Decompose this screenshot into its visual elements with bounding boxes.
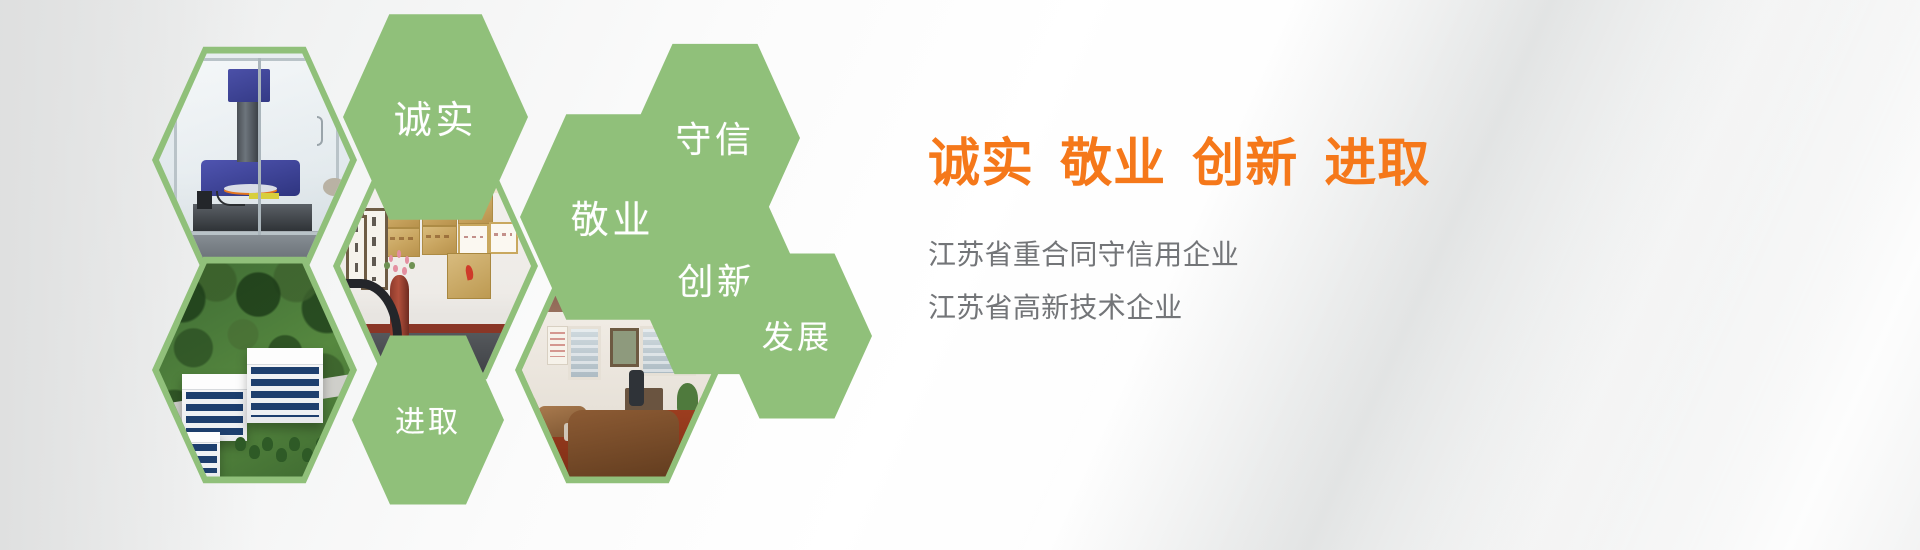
hexagon-cluster: 诚实 敬业 守信 创新 发展 进取	[0, 0, 920, 550]
hexagon-photo-cmm[interactable]	[152, 42, 357, 278]
company-values-banner: 诚实 敬业 守信 创新 发展 进取 诚实敬业创新进取 江苏省重合同守信用企业 江…	[0, 0, 1920, 550]
cmm-photo	[159, 49, 350, 271]
banner-copy: 诚实敬业创新进取 江苏省重合同守信用企业 江苏省高新技术企业	[928, 136, 1828, 346]
hexagon-value-fazhan-label: 发展	[762, 312, 832, 358]
hexagon-value-jingye-label: 敬业	[571, 189, 655, 244]
hexagon-photo-campus[interactable]	[152, 252, 357, 488]
headline-word-3: 创新	[1192, 134, 1298, 194]
banner-subtitle-line-1: 江苏省重合同守信用企业	[928, 240, 1828, 271]
campus-photo	[159, 259, 350, 481]
hexagon-value-shouxin-label: 守信	[675, 111, 754, 163]
hexagon-value-jinqu-label: 进取	[395, 397, 461, 441]
headline-word-1: 诚实	[928, 134, 1034, 194]
hexagon-value-chengshi-label: 诚实	[394, 89, 478, 144]
headline-word-4: 进取	[1324, 134, 1430, 194]
headline-word-2: 敬业	[1060, 134, 1166, 194]
banner-headline: 诚实敬业创新进取	[928, 136, 1828, 192]
banner-subtitle-line-2: 江苏省高新技术企业	[928, 293, 1828, 324]
